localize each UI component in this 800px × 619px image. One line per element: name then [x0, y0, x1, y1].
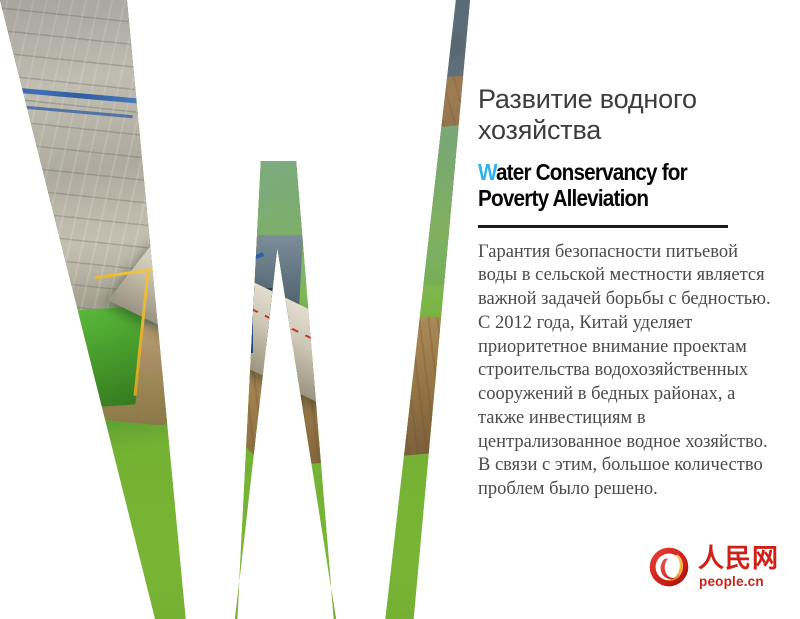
dam-construction-photo: [0, 0, 470, 619]
photo-green-tarp-b: [174, 259, 295, 354]
title-english-line1-rest: ater Conservancy for: [496, 159, 687, 185]
photo-tower-crane-blue: [250, 260, 253, 353]
text-column: Развитие водного хозяйства Water Conserv…: [478, 84, 788, 502]
photo-green-tarp-a: [4, 305, 146, 413]
logo-chinese-name: 人民网: [698, 544, 779, 574]
title-english: Water Conservancy forPoverty Alleviation: [478, 159, 775, 211]
title-english-line2: Poverty Alleviation: [478, 185, 648, 211]
photo-sluice-gate: [182, 235, 303, 346]
photo-upstream-water: [181, 119, 470, 339]
people-cn-logo[interactable]: 人民网 people.cn: [648, 544, 778, 596]
title-english-initial-w: W: [478, 159, 496, 185]
hero-image-w-mask: [0, 0, 470, 619]
photo-earth-bank-bottom: [235, 310, 470, 469]
title-divider-rule: [478, 225, 728, 228]
photo-batching-plant: [191, 31, 244, 142]
title-russian: Развитие водного хозяйства: [478, 84, 768, 146]
people-daily-swoosh-icon: [648, 546, 690, 588]
logo-url-text: people.cn: [699, 574, 764, 589]
photo-green-river: [0, 371, 470, 619]
poster-root: Развитие водного хозяйства Water Conserv…: [0, 0, 800, 619]
body-paragraph: Гарантия безопасности питьевой воды в се…: [478, 241, 778, 502]
